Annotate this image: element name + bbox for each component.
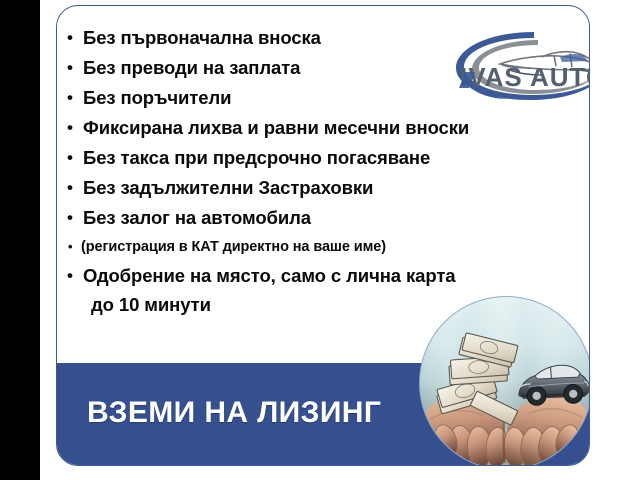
ivas-auto-logo: IVAS AUTO IVAS AUTO: [442, 28, 590, 104]
screenshot-stage: Без първоначална вноска Без преводи на з…: [0, 0, 640, 480]
benefit-text: Без поръчители: [83, 87, 231, 108]
leasing-offer-card: Без първоначална вноска Без преводи на з…: [56, 5, 590, 466]
benefit-item-7: Без залог на автомобила: [65, 203, 589, 233]
benefit-text: Без първоначална вноска: [83, 27, 321, 48]
logo-text: IVAS AUTO: [460, 62, 590, 92]
cta-label: ВЗЕМИ НА ЛИЗИНГ: [87, 396, 381, 430]
benefit-item-4: Фиксирана лихва и равни месечни вноски: [65, 113, 589, 143]
benefit-text: Без такса при предсрочно погасяване: [83, 147, 430, 168]
benefit-item-5: Без такса при предсрочно погасяване: [65, 143, 589, 173]
hands-money-car-photo: [419, 296, 590, 466]
benefit-text: Фиксирана лихва и равни месечни вноски: [83, 117, 469, 138]
benefit-text: Без залог на автомобила: [83, 207, 311, 228]
benefit-text: Одобрение на място, само с лична карта: [83, 265, 455, 286]
benefit-text: Без преводи на заплата: [83, 57, 300, 78]
benefit-item-6: Без задължителни Застраховки: [65, 173, 589, 203]
benefit-item-8-note: (регистрация в КАТ директно на ваше име): [65, 233, 589, 261]
benefit-text: (регистрация в КАТ директно на ваше име): [81, 239, 386, 255]
benefit-text: Без задължителни Застраховки: [83, 177, 373, 198]
